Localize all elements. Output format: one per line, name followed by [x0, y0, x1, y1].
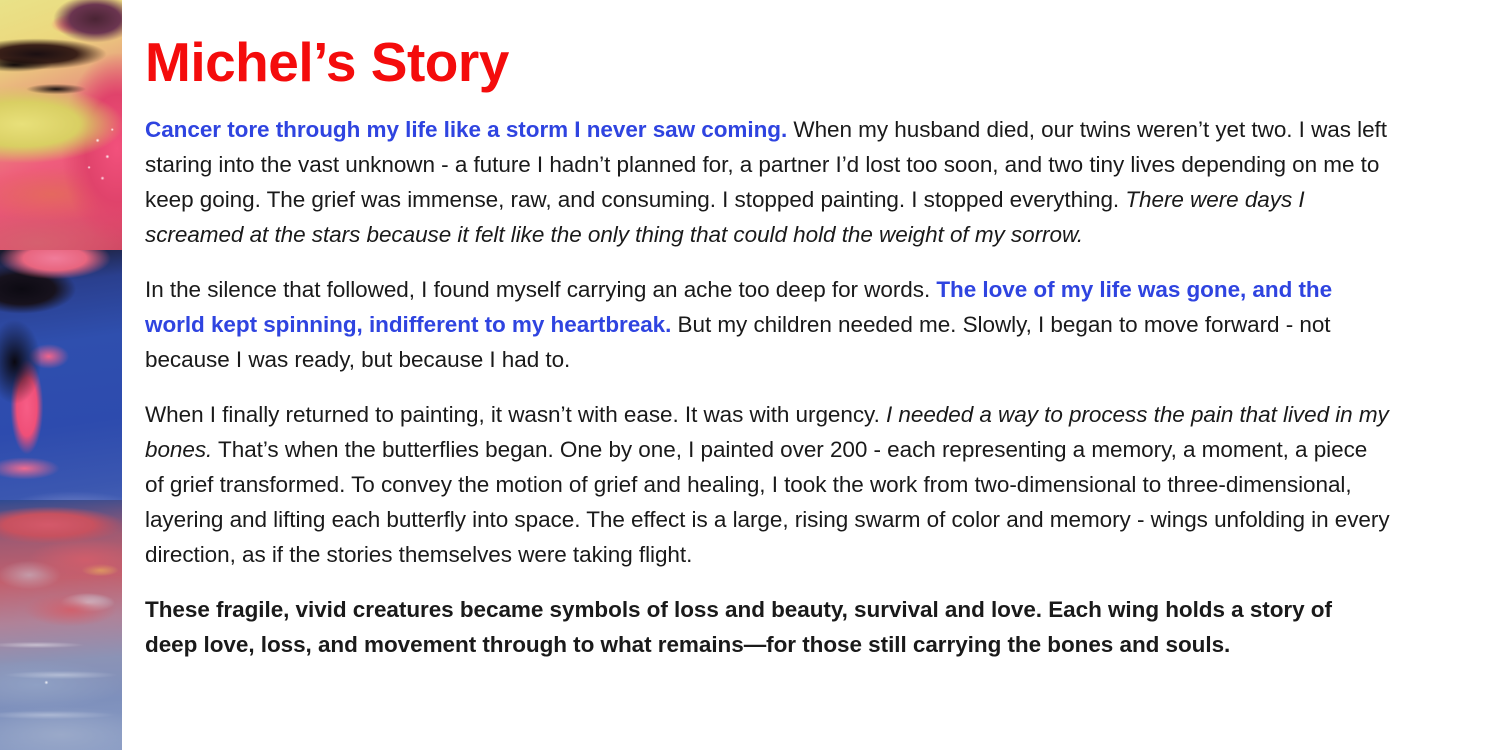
story-paragraph-3: When I finally returned to painting, it … [145, 397, 1390, 572]
story-content: Michel’s Story Cancer tore through my li… [122, 0, 1500, 750]
paragraph-3-text-before: When I finally returned to painting, it … [145, 402, 886, 427]
paragraph-1-lead-bold: Cancer tore through my life like a storm… [145, 117, 787, 142]
page-title: Michel’s Story [145, 34, 1390, 92]
story-paragraph-2: In the silence that followed, I found my… [145, 272, 1390, 377]
story-page: Michel’s Story Cancer tore through my li… [0, 0, 1500, 750]
story-body: Cancer tore through my life like a storm… [145, 112, 1390, 662]
artwork-region-top [0, 0, 122, 270]
artwork-region-middle [0, 250, 122, 530]
paragraph-3-text-after: That’s when the butterflies began. One b… [145, 437, 1390, 567]
marbled-artwork-strip [0, 0, 122, 750]
artwork-region-bottom [0, 500, 122, 750]
paragraph-2-text-before: In the silence that followed, I found my… [145, 277, 936, 302]
story-paragraph-1: Cancer tore through my life like a storm… [145, 112, 1390, 252]
story-paragraph-4: These fragile, vivid creatures became sy… [145, 592, 1390, 662]
